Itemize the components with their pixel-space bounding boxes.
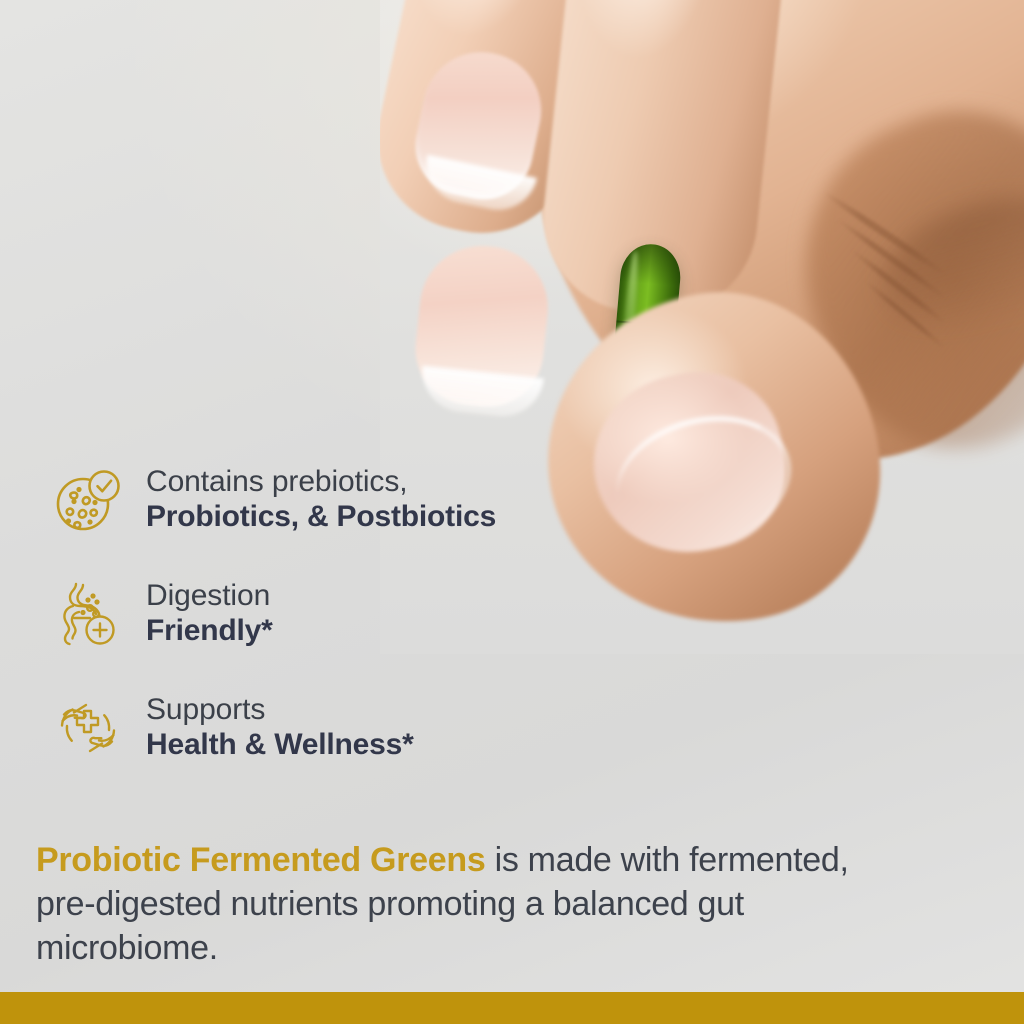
petri-dish-microbes-check-icon: [52, 464, 124, 536]
green-capsule: [609, 242, 683, 412]
middle-fingernail: [410, 240, 554, 413]
feature-text: Supports Health & Wellness*: [146, 693, 414, 763]
capsule-highlight: [618, 251, 640, 400]
feature-row: Contains prebiotics, Probiotics, & Postb…: [52, 462, 672, 538]
feature-text: Contains prebiotics, Probiotics, & Postb…: [146, 465, 496, 535]
footer-gold-bar: [0, 992, 1024, 1024]
index-fingernail: [406, 41, 552, 208]
thumb-crease-1: [821, 189, 949, 279]
feature-line-1: Contains prebiotics,: [146, 465, 496, 500]
feature-line-2: Probiotics, & Postbiotics: [146, 500, 496, 535]
capsule-top-shadow: [620, 242, 683, 287]
brand-name: Probiotic Fermented Greens: [36, 841, 485, 879]
product-description: Probiotic Fermented Greens is made with …: [36, 838, 916, 971]
stomach-digestion-plus-icon: [52, 578, 124, 650]
capsule-seam: [616, 321, 676, 328]
thumb-crease-4: [863, 279, 947, 351]
feature-row: Digestion Friendly*: [52, 576, 672, 652]
caring-hands-medical-cross-icon: [52, 692, 124, 764]
thumb-crease-2: [835, 217, 949, 302]
feature-text: Digestion Friendly*: [146, 579, 273, 649]
middle-fingernail-tip: [418, 366, 544, 421]
index-finger: [380, 0, 635, 250]
feature-line-2: Friendly*: [146, 614, 273, 649]
middle-finger: [534, 0, 796, 324]
feature-list: Contains prebiotics, Probiotics, & Postb…: [52, 462, 672, 766]
thumb-crease-3: [849, 247, 949, 327]
index-fingernail-tip: [419, 155, 537, 217]
hand-back-mass: [489, 0, 1024, 496]
product-benefits-canvas: Contains prebiotics, Probiotics, & Postb…: [0, 0, 1024, 1024]
feature-line-1: Supports: [146, 693, 414, 728]
feature-row: Supports Health & Wellness*: [52, 690, 672, 766]
hand-shading-lower: [868, 176, 1024, 352]
feature-line-2: Health & Wellness*: [146, 728, 414, 763]
feature-line-1: Digestion: [146, 579, 273, 614]
hand-shading-upper: [759, 70, 1024, 488]
